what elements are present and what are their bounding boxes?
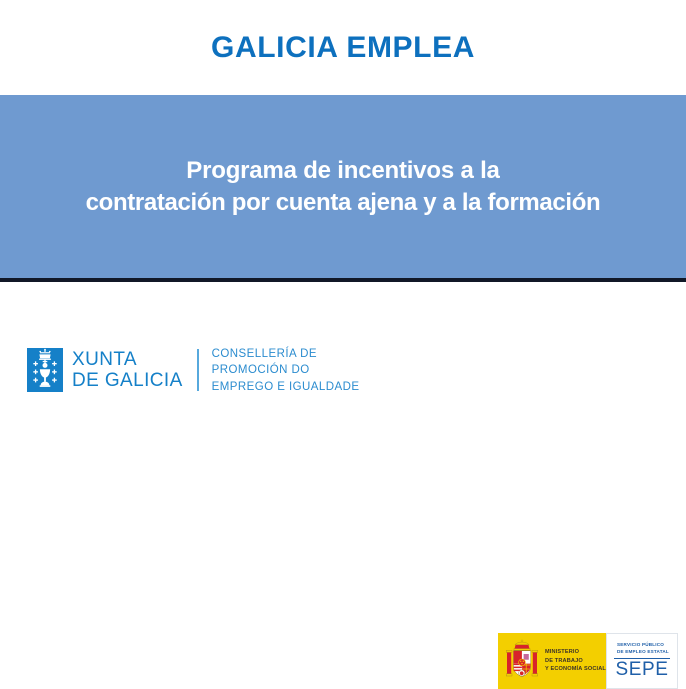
highlight-band: Programa de incentivos a la contratación…	[0, 95, 686, 282]
galicia-coat-of-arms-icon	[27, 348, 63, 392]
program-heading-line-1: Programa de incentivos a la	[86, 155, 601, 187]
title-area: GALICIA EMPLEA	[0, 0, 686, 95]
spain-coat-of-arms-icon	[504, 639, 540, 683]
poster-root: GALICIA EMPLEA Programa de incentivos a …	[0, 0, 686, 410]
page-title: GALICIA EMPLEA	[211, 33, 475, 63]
sepe-logo: SERVICIO PÚBLICO DE EMPLEO ESTATAL SEPE	[606, 633, 678, 689]
xunta-wordmark: XUNTA DE GALICIA	[72, 349, 183, 392]
xunta-de-galicia-logo: XUNTA DE GALICIA CONSELLERÍA DE PROMOCIÓ…	[27, 346, 360, 395]
government-logos: MINISTERIO DE TRABAJO Y ECONOMÍA SOCIAL …	[498, 633, 678, 689]
ministerio-de-trabajo-logo: MINISTERIO DE TRABAJO Y ECONOMÍA SOCIAL	[498, 633, 606, 689]
ministerio-wordmark: MINISTERIO DE TRABAJO Y ECONOMÍA SOCIAL	[545, 648, 606, 674]
conselleria-line-1: CONSELLERÍA DE	[212, 346, 360, 362]
logo-divider	[197, 349, 199, 391]
ministerio-line-2: DE TRABAJO	[545, 657, 606, 666]
footer-logo-bar: XUNTA DE GALICIA CONSELLERÍA DE PROMOCIÓ…	[0, 286, 686, 410]
conselleria-line-2: PROMOCIÓN DO	[212, 362, 360, 378]
sepe-full-name: SERVICIO PÚBLICO DE EMPLEO ESTATAL	[611, 642, 673, 656]
program-heading-line-2: contratación por cuenta ajena y a la for…	[86, 187, 601, 219]
sepe-line-1: SERVICIO PÚBLICO	[617, 642, 673, 649]
ministerio-line-1: MINISTERIO	[545, 648, 606, 657]
conselleria-line-3: EMPREGO E IGUALDADE	[212, 379, 360, 395]
ministerio-line-3: Y ECONOMÍA SOCIAL	[545, 665, 606, 674]
sepe-line-2: DE EMPLEO ESTATAL	[617, 649, 673, 656]
sepe-acronym: SEPE	[615, 660, 668, 680]
xunta-wordmark-line-2: DE GALICIA	[72, 370, 183, 391]
program-heading: Programa de incentivos a la contratación…	[72, 155, 615, 219]
sepe-divider	[614, 658, 670, 659]
conselleria-label: CONSELLERÍA DE PROMOCIÓN DO EMPREGO E IG…	[212, 346, 360, 395]
xunta-wordmark-line-1: XUNTA	[72, 349, 183, 370]
